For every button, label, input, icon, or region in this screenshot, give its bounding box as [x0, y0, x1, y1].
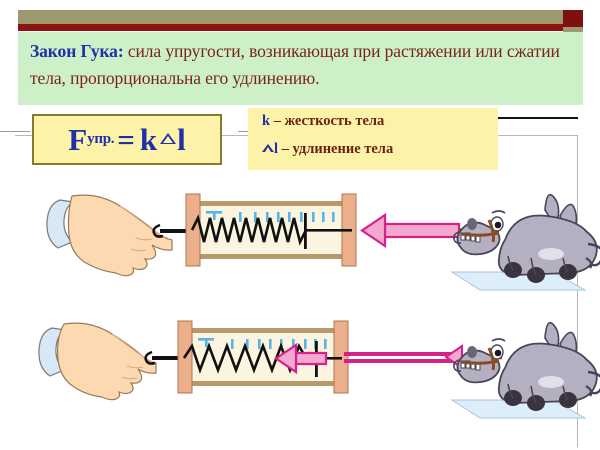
formula-force-symbol: F — [68, 122, 87, 158]
slide-root: Закон Гука: сила упругости, возникающая … — [0, 0, 600, 450]
large-force-arrow — [362, 215, 459, 246]
topbar-khaki-band — [18, 10, 563, 24]
small-force-experiment — [0, 300, 600, 420]
hooke-formula: Fупр. = kl — [34, 116, 220, 163]
dynamometer — [186, 194, 356, 266]
legend-symbol-k: k — [262, 113, 270, 129]
donkey-icon — [454, 323, 600, 411]
legend-box: k – жесткость тела l – удлинение тела — [248, 108, 498, 170]
legend-item-stiffness: k – жесткость тела — [262, 113, 384, 130]
formula-equals: = — [117, 122, 135, 158]
triangle-delta-small-icon — [262, 144, 274, 152]
formula-stiffness-symbol: k — [140, 122, 157, 158]
formula-subscript: упр. — [87, 131, 114, 148]
legend-dash-0: – — [270, 113, 285, 129]
spring-pointer — [304, 213, 307, 249]
topbar-end-block — [563, 10, 583, 27]
hand-pulling-icon — [39, 323, 156, 400]
decorative-top-bar — [18, 10, 583, 32]
legend-item-elongation: l – удлинение тела — [262, 141, 393, 158]
legend-dash-1: – — [278, 141, 293, 157]
divider-rule-left — [0, 131, 30, 132]
legend-text-stiffness: жесткость тела — [285, 113, 385, 129]
divider-rule-black — [495, 117, 578, 119]
legend-text-elongation: удлинение тела — [293, 141, 394, 157]
large-force-experiment — [0, 180, 600, 300]
triangle-delta-icon — [160, 133, 176, 144]
formula-box: Fупр. = kl — [32, 114, 222, 165]
hand-pulling-icon — [47, 195, 172, 276]
force-connector-rod — [344, 346, 462, 368]
formula-length-symbol: l — [177, 122, 186, 158]
law-statement-text: Закон Гука: сила упругости, возникающая … — [30, 38, 575, 92]
law-statement-band: Закон Гука: сила упругости, возникающая … — [18, 32, 583, 105]
law-statement-lead: Закон Гука: — [30, 41, 124, 61]
spring-rod — [306, 229, 352, 232]
topbar-accent-band — [18, 24, 563, 31]
donkey-icon — [454, 195, 600, 283]
